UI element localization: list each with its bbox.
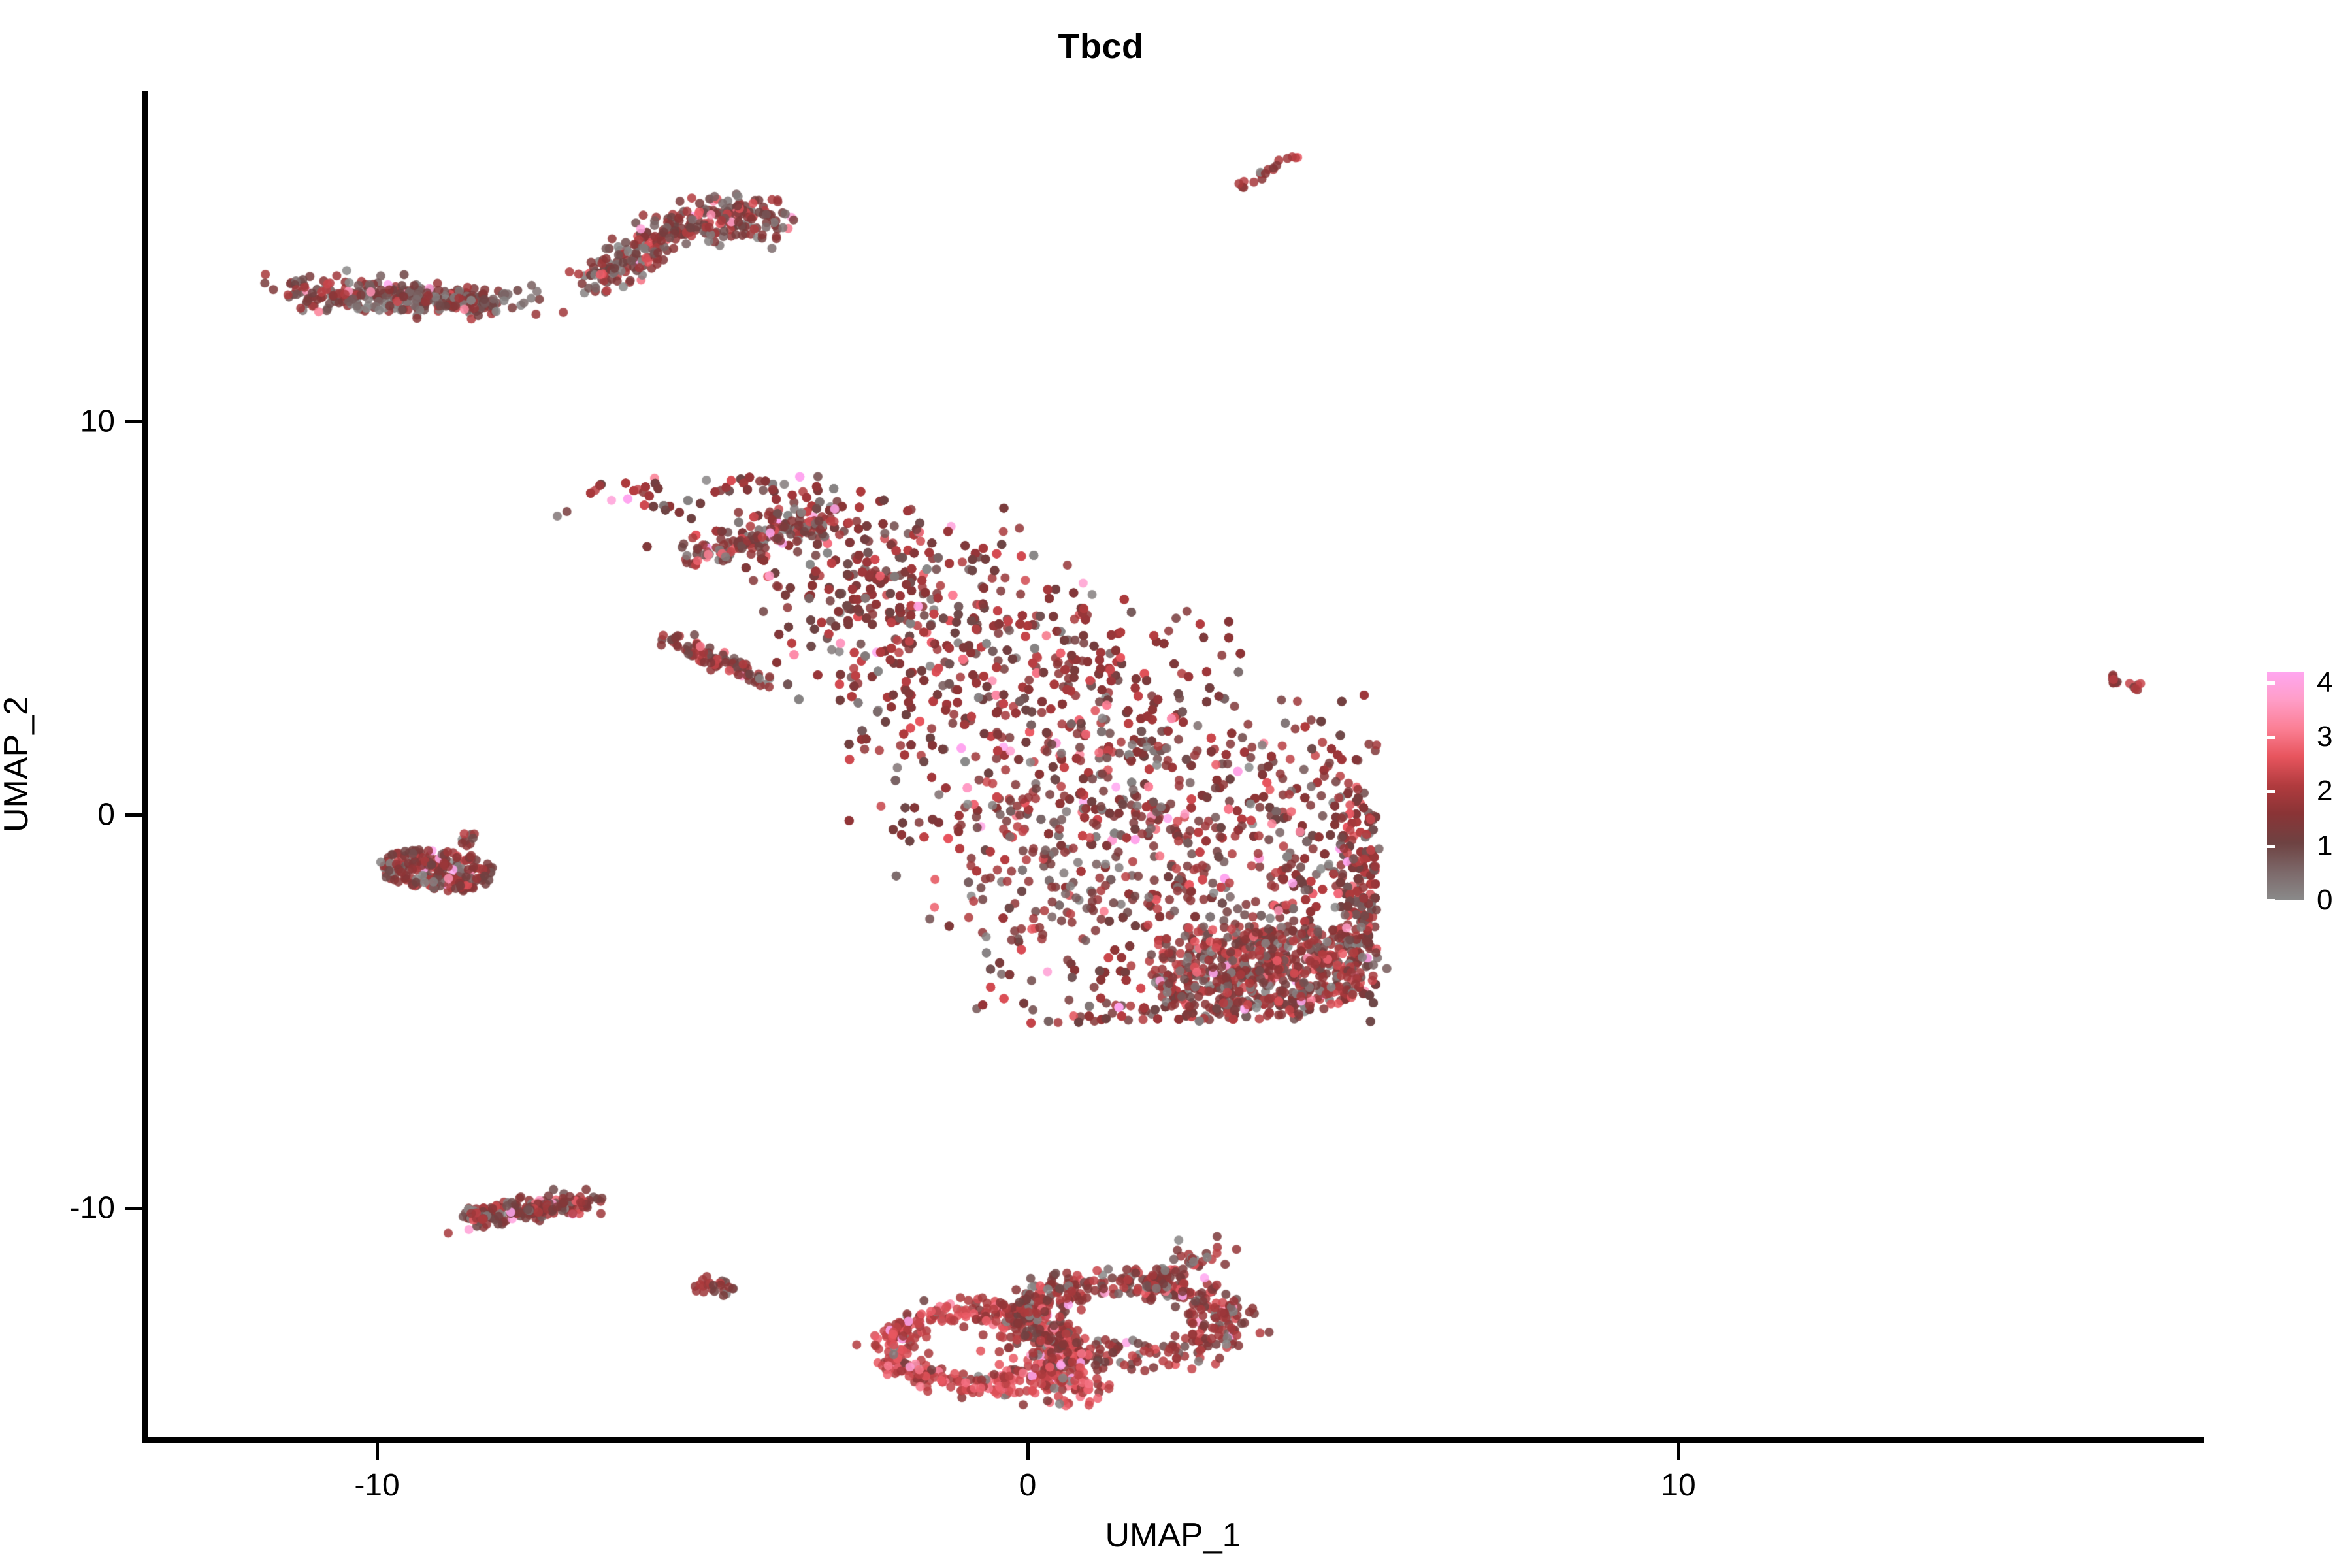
x-tick-label: 0 <box>1019 1467 1037 1503</box>
x-tick-mark <box>376 1443 379 1460</box>
colorbar-tick-mark <box>2267 736 2275 739</box>
umap-feature-plot: Tbcd -10010 100-10 UMAP_1 UMAP_2 01234 <box>0 0 2352 1568</box>
colorbar-tick-mark <box>2267 899 2275 902</box>
x-axis-title: UMAP_1 <box>142 1516 2204 1555</box>
colorbar-tick-label: 3 <box>2317 721 2332 753</box>
y-tick-mark <box>125 813 142 817</box>
x-tick-mark <box>1677 1443 1680 1460</box>
y-tick-label: -10 <box>70 1190 115 1226</box>
x-tick-label: 10 <box>1661 1467 1695 1503</box>
x-tick-label: -10 <box>354 1467 399 1503</box>
y-tick-label: 0 <box>97 797 115 833</box>
colorbar-tick-label: 4 <box>2317 666 2332 699</box>
colorbar-tick-mark <box>2344 845 2352 848</box>
colorbar-gradient <box>2267 672 2304 900</box>
colorbar-tick-mark <box>2344 899 2352 902</box>
colorbar-tick-mark <box>2267 790 2275 793</box>
colorbar-tick-label: 2 <box>2317 775 2332 808</box>
colorbar-tick-mark <box>2344 790 2352 793</box>
x-axis-line <box>142 1437 2204 1443</box>
scatter-canvas <box>146 91 2202 1441</box>
page-title: Tbcd <box>0 26 2202 67</box>
colorbar-tick-label: 1 <box>2317 830 2332 862</box>
colorbar-legend: 01234 <box>2267 672 2352 900</box>
colorbar-tick-mark <box>2267 845 2275 848</box>
colorbar-tick-mark <box>2267 681 2275 685</box>
y-axis-line <box>142 91 148 1443</box>
y-tick-label: 10 <box>80 404 115 440</box>
x-tick-mark <box>1026 1443 1030 1460</box>
y-tick-mark <box>125 1207 142 1210</box>
colorbar-tick-mark <box>2344 736 2352 739</box>
colorbar-tick-label: 0 <box>2317 884 2332 917</box>
y-tick-mark <box>125 420 142 423</box>
colorbar-tick-mark <box>2344 681 2352 685</box>
y-axis-title: UMAP_2 <box>0 696 36 832</box>
plot-panel <box>146 91 2202 1441</box>
